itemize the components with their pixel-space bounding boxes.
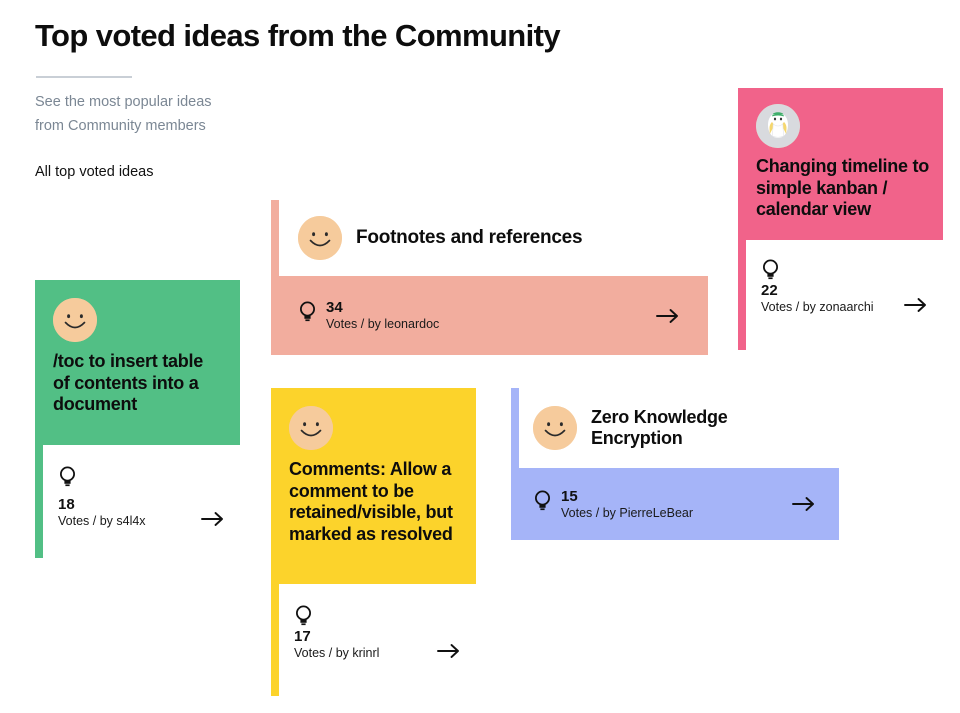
arrow-right-icon[interactable]: [903, 295, 929, 315]
idea-card-header: Footnotes and references: [279, 200, 708, 276]
lightbulb-icon: [761, 258, 780, 282]
vote-byline: Votes / by krinrl: [294, 645, 379, 661]
vote-byline: Votes / by zonaarchi: [761, 299, 874, 315]
smiley-avatar: [298, 216, 342, 260]
vote-count: 18: [58, 496, 146, 513]
vote-count: 17: [294, 628, 379, 645]
idea-card-kanban[interactable]: Changing timeline to simple kanban / cal…: [738, 88, 943, 350]
lightbulb-icon: [533, 489, 552, 513]
idea-title: Changing timeline to simple kanban / cal…: [756, 156, 931, 221]
arrow-right-icon[interactable]: [436, 641, 462, 661]
idea-card-footer: 17 Votes / by krinrl: [271, 584, 476, 696]
arrow-right-icon[interactable]: [655, 306, 681, 326]
idea-card-footer: 18 Votes / by s4l4x: [35, 445, 240, 558]
page-subtitle: See the most popular ideas from Communit…: [35, 90, 240, 138]
idea-card-comments[interactable]: Comments: Allow a comment to be retained…: [271, 388, 476, 696]
idea-card-footer: 34 Votes / by leonardoc: [279, 276, 708, 355]
vote-count: 34: [326, 299, 439, 316]
idea-title: Footnotes and references: [356, 228, 582, 248]
idea-title: Comments: Allow a comment to be retained…: [289, 459, 462, 545]
idea-card-header: Zero Knowledge Encryption: [519, 388, 839, 468]
vote-byline: Votes / by leonardoc: [326, 316, 439, 332]
vote-count: 22: [761, 282, 874, 299]
arrow-right-icon[interactable]: [200, 509, 226, 529]
page-title: Top voted ideas from the Community: [35, 18, 560, 54]
idea-card-toc[interactable]: /toc to insert table of contents into a …: [35, 280, 240, 558]
penguin-avatar: [756, 104, 800, 148]
smiley-avatar: [533, 406, 577, 450]
arrow-right-icon[interactable]: [791, 494, 817, 514]
title-divider: [36, 76, 132, 78]
idea-card-zero-knowledge[interactable]: Zero Knowledge Encryption 15 Votes / by …: [511, 388, 839, 540]
idea-card-footer: 15 Votes / by PierreLeBear: [519, 468, 839, 540]
vote-byline: Votes / by s4l4x: [58, 513, 146, 529]
idea-title: /toc to insert table of contents into a …: [53, 351, 224, 416]
all-top-voted-ideas-link[interactable]: All top voted ideas: [35, 162, 154, 182]
smiley-avatar: [289, 406, 333, 450]
lightbulb-icon: [294, 604, 313, 628]
idea-title: Zero Knowledge Encryption: [591, 407, 781, 450]
lightbulb-icon: [298, 300, 317, 324]
idea-card-header: Changing timeline to simple kanban / cal…: [738, 88, 943, 240]
idea-card-header: Comments: Allow a comment to be retained…: [271, 388, 476, 584]
lightbulb-icon: [58, 465, 77, 489]
vote-byline: Votes / by PierreLeBear: [561, 505, 693, 521]
idea-card-header: /toc to insert table of contents into a …: [35, 280, 240, 445]
idea-card-footnotes[interactable]: Footnotes and references 34 Votes / by l…: [271, 200, 708, 355]
smiley-avatar: [53, 298, 97, 342]
ideas-board: Top voted ideas from the Community See t…: [0, 0, 960, 713]
idea-card-footer: 22 Votes / by zonaarchi: [738, 240, 943, 350]
vote-count: 15: [561, 488, 693, 505]
